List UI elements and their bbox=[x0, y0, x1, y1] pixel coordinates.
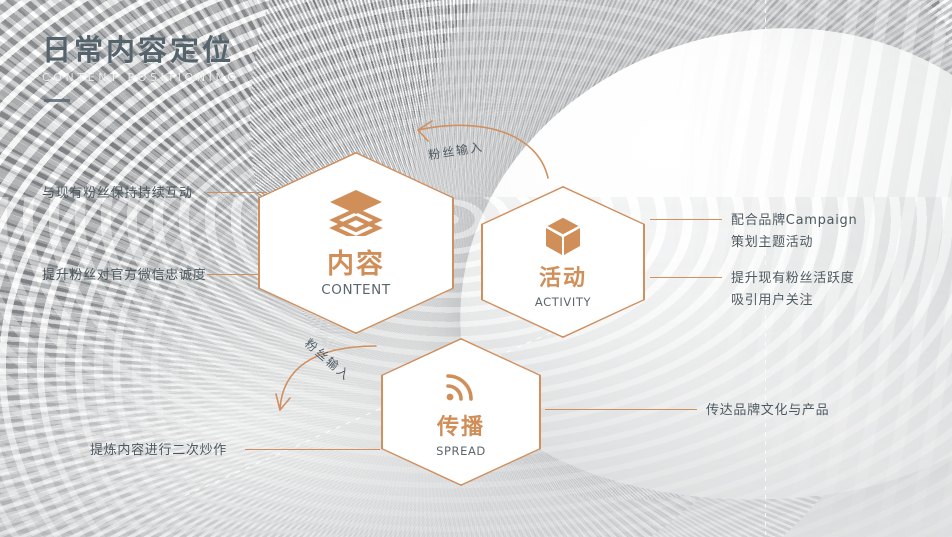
label-left-top: 与现有粉丝保持持续互动 bbox=[42, 184, 193, 204]
connector-left-bottom bbox=[245, 449, 380, 450]
page-title: 日常内容定位 bbox=[42, 34, 239, 67]
node-spread-title-en: SPREAD bbox=[436, 444, 486, 458]
layers-icon bbox=[328, 188, 384, 236]
label-right-mid-line1: 提升现有粉丝活跃度 bbox=[731, 268, 854, 290]
label-right-mid: 提升现有粉丝活跃度 吸引用户关注 bbox=[731, 268, 854, 312]
slide-canvas: 日常内容定位 CONTENT POSITIONING 粉丝输入 粉丝输入 bbox=[0, 0, 952, 537]
label-right-bottom: 传达品牌文化与产品 bbox=[706, 401, 829, 421]
label-left-bottom: 提炼内容进行二次炒作 bbox=[90, 441, 227, 461]
flow-arrow-top: 粉丝输入 bbox=[398, 108, 573, 183]
title-underline-rule bbox=[44, 99, 70, 102]
page-subtitle: CONTENT POSITIONING bbox=[42, 71, 239, 84]
connector-right-bottom bbox=[545, 409, 697, 410]
title-block: 日常内容定位 CONTENT POSITIONING bbox=[42, 34, 239, 102]
label-right-top-line1: 配合品牌Campaign bbox=[731, 210, 857, 232]
node-spread-title-cn: 传播 bbox=[437, 416, 485, 440]
node-activity-title-en: ACTIVITY bbox=[535, 295, 591, 309]
label-left-mid: 提升粉丝对官方微信忠诚度 bbox=[42, 266, 206, 286]
flow-arrow-top-icon bbox=[398, 108, 573, 183]
node-content-title-cn: 内容 bbox=[327, 250, 385, 280]
connector-right-top bbox=[650, 219, 722, 220]
node-activity-title-cn: 活动 bbox=[539, 267, 587, 291]
label-right-top: 配合品牌Campaign 策划主题活动 bbox=[731, 210, 857, 254]
label-right-top-line2: 策划主题活动 bbox=[731, 232, 857, 254]
cube-icon bbox=[543, 215, 583, 257]
connector-right-mid bbox=[650, 277, 722, 278]
node-content-title-en: CONTENT bbox=[321, 282, 390, 298]
connector-left-top bbox=[207, 192, 267, 193]
broadcast-icon bbox=[441, 366, 481, 406]
label-right-mid-line2: 吸引用户关注 bbox=[731, 290, 854, 312]
